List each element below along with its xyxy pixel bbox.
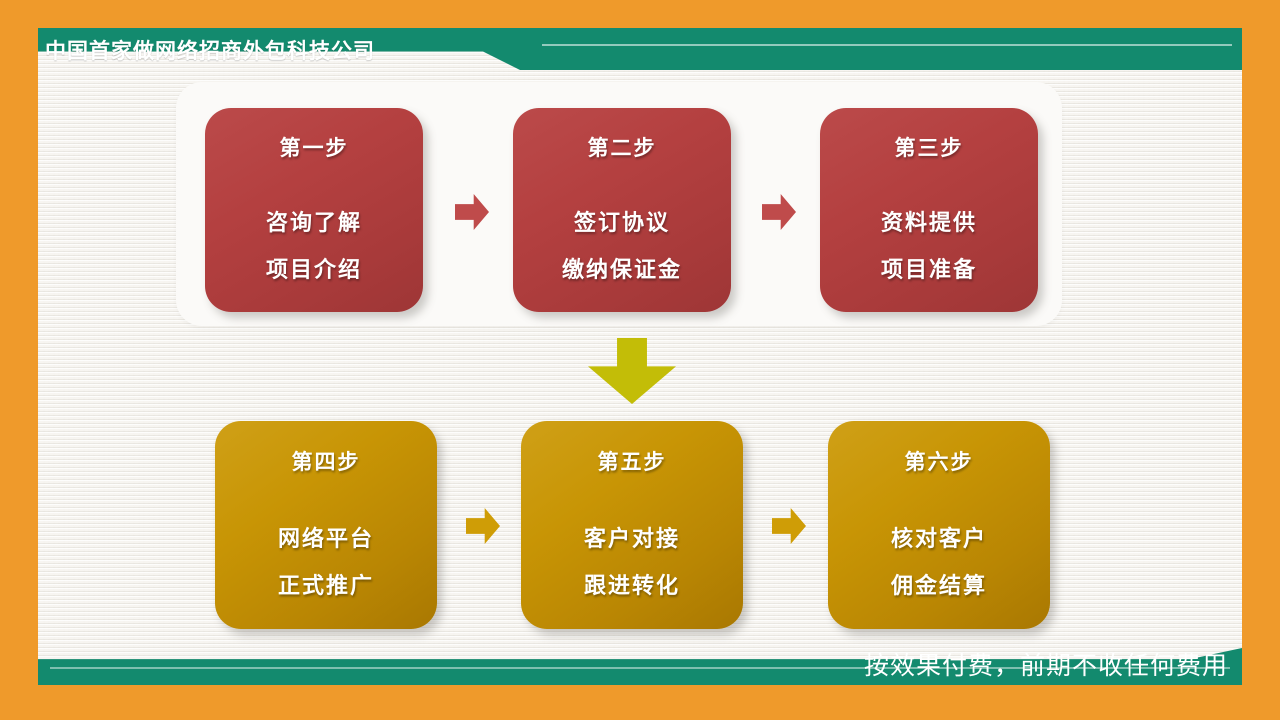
- flow-card-step-5[interactable]: 第五步 客户对接 跟进转化: [521, 421, 743, 629]
- flow-card-step-6[interactable]: 第六步 核对客户 佣金结算: [828, 421, 1050, 629]
- card-line-2: 项目准备: [820, 252, 1038, 284]
- header-title: 中国首家做网络招商外包科技公司: [45, 34, 375, 70]
- flow-card-step-4[interactable]: 第四步 网络平台 正式推广: [215, 421, 437, 629]
- card-line-1: 客户对接: [521, 521, 743, 553]
- card-line-2: 项目介绍: [205, 252, 423, 284]
- card-step-label: 第二步: [513, 132, 731, 162]
- card-line-1: 资料提供: [820, 205, 1038, 237]
- card-step-label: 第一步: [205, 132, 423, 162]
- card-line-1: 网络平台: [215, 521, 437, 553]
- card-line-1: 签订协议: [513, 205, 731, 237]
- card-line-2: 缴纳保证金: [513, 252, 731, 284]
- card-line-2: 佣金结算: [828, 568, 1050, 600]
- card-line-1: 咨询了解: [205, 205, 423, 237]
- slide-root: 中国首家做网络招商外包科技公司 第一步 咨询了解 项目介绍 第二步 签订协议 缴…: [0, 0, 1280, 720]
- card-line-2: 正式推广: [215, 568, 437, 600]
- card-step-label: 第四步: [215, 446, 437, 476]
- footer-tagline: 按效果付费，前期不收任何费用: [864, 647, 1228, 685]
- card-line-2: 跟进转化: [521, 568, 743, 600]
- flow-card-step-1[interactable]: 第一步 咨询了解 项目介绍: [205, 108, 423, 312]
- card-line-1: 核对客户: [828, 521, 1050, 553]
- flow-card-step-2[interactable]: 第二步 签订协议 缴纳保证金: [513, 108, 731, 312]
- header-divider-line: [542, 44, 1232, 46]
- card-step-label: 第六步: [828, 446, 1050, 476]
- flow-card-step-3[interactable]: 第三步 资料提供 项目准备: [820, 108, 1038, 312]
- card-step-label: 第五步: [521, 446, 743, 476]
- card-step-label: 第三步: [820, 132, 1038, 162]
